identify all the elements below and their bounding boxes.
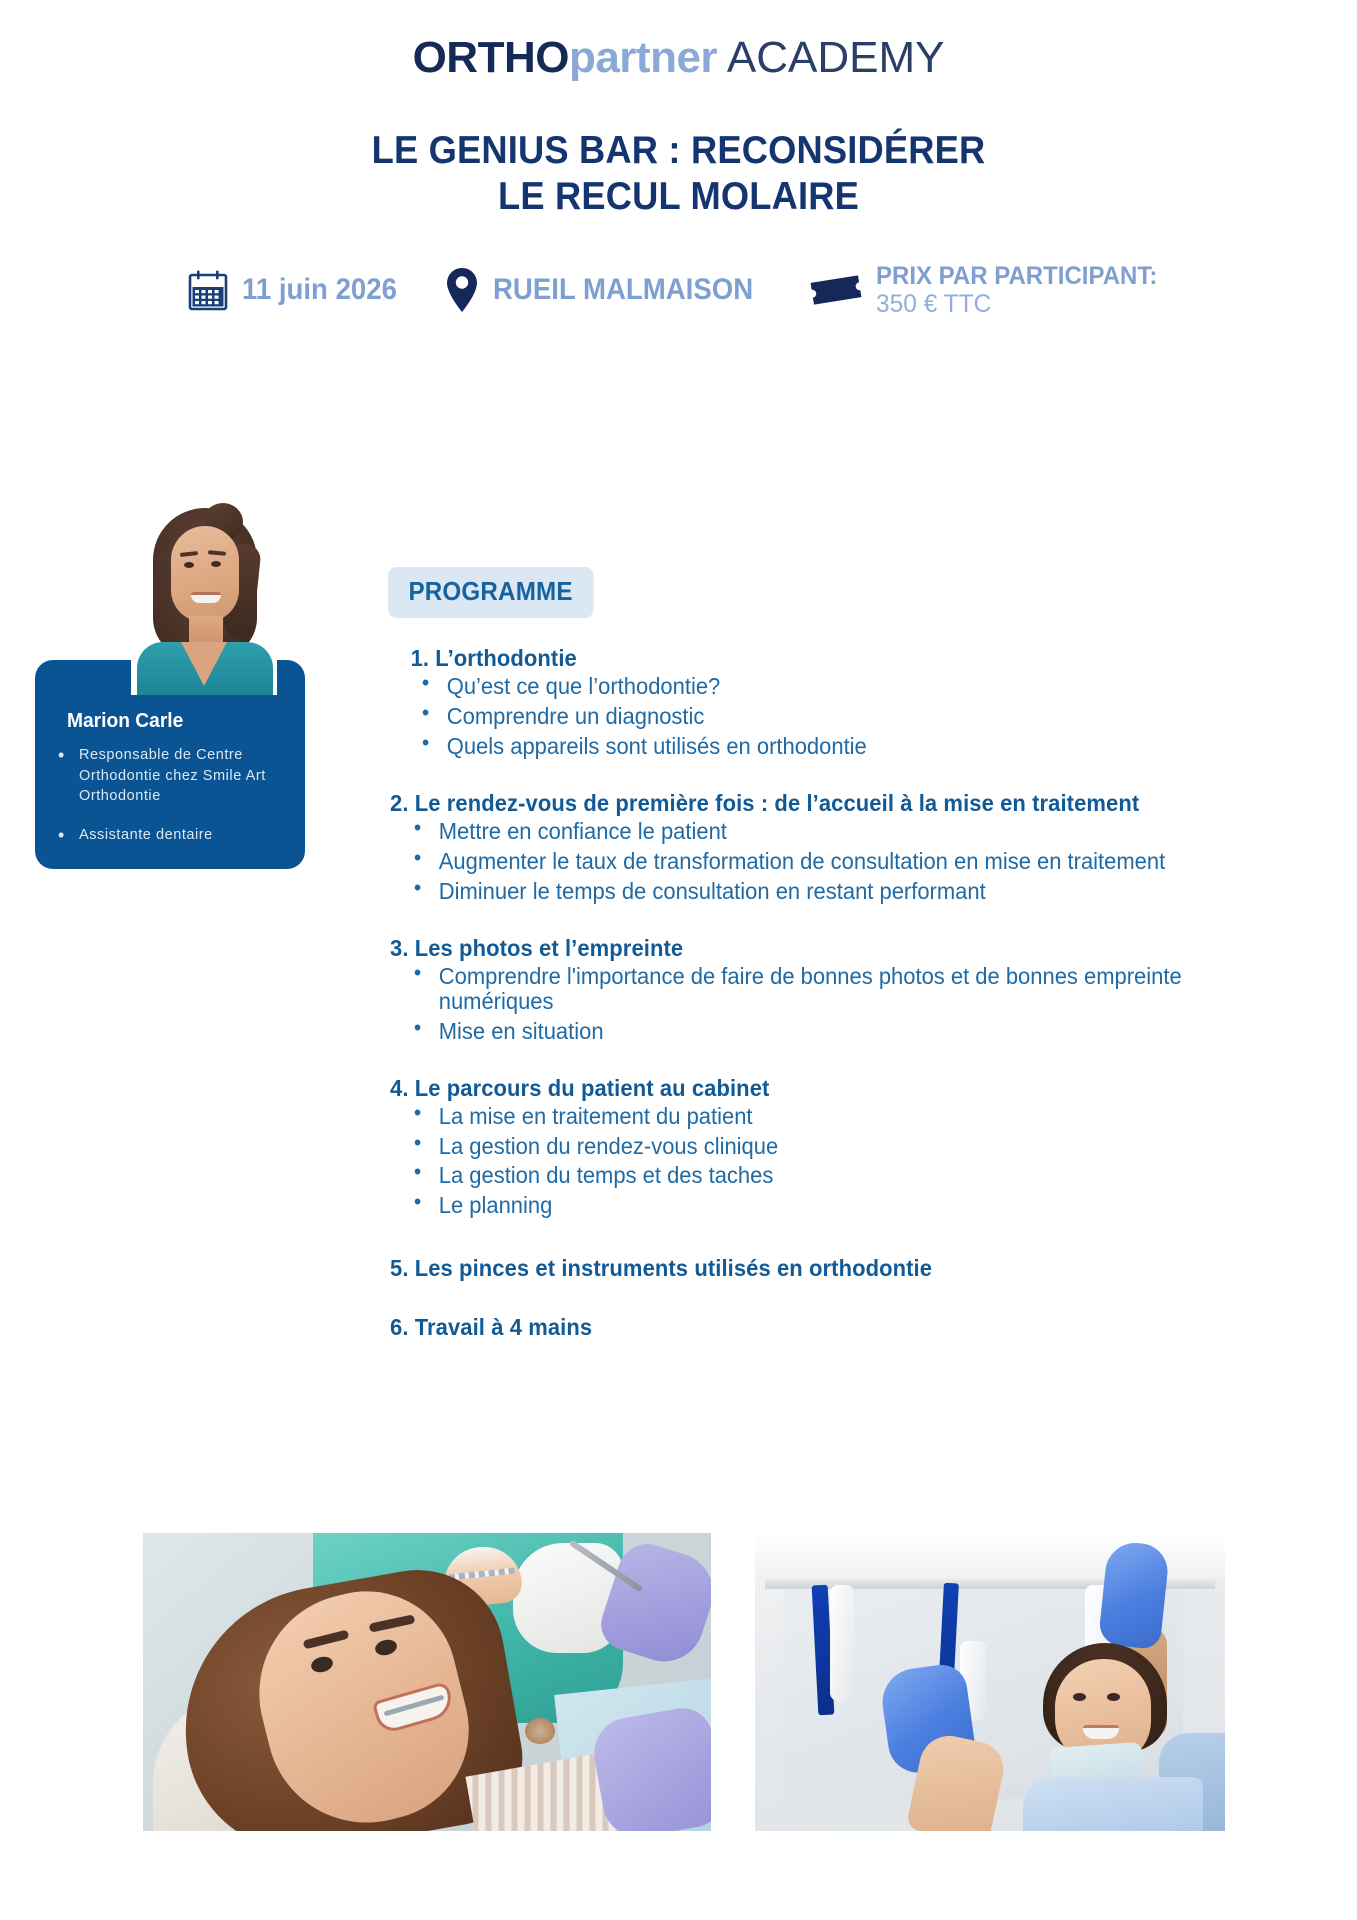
programme-section-5: 5. Les pinces et instruments utilisés en… — [390, 1255, 1310, 1282]
list-item: Quels appareils sont utilisés en orthodo… — [420, 734, 1270, 760]
list-item: Mettre en confiance le patient — [412, 819, 1270, 845]
programme-section-6: 6. Travail à 4 mains — [390, 1314, 1310, 1341]
list-item: La gestion du rendez-vous clinique — [412, 1134, 1270, 1160]
speaker-roles-list: Responsable de Centre Orthodontie chez S… — [53, 745, 287, 845]
photo-assistant-with-panoramic-xray — [755, 1533, 1225, 1831]
logo-partner-text: partner — [569, 33, 717, 82]
speaker-name: Marion Carle — [67, 710, 278, 733]
list-item: Comprendre l'importance de faire de bonn… — [412, 964, 1270, 1016]
programme-section-heading: 6. Travail à 4 mains — [390, 1314, 1250, 1341]
programme-section-heading: 2. Le rendez-vous de première fois : de … — [390, 790, 1250, 817]
event-date-text: 11 juin 2026 — [242, 273, 397, 307]
event-price-label: PRIX PAR PARTICIPANT: — [876, 262, 1157, 290]
page-title-line-2: LE RECUL MOLAIRE — [47, 174, 1309, 220]
event-location: RUEIL MALMAISON — [411, 267, 776, 313]
programme-section-1: 1. L’orthodontie Qu’est ce que l’orthodo… — [390, 645, 1310, 759]
logo-ortho-text: ORTHO — [413, 33, 569, 82]
list-item: Diminuer le temps de consultation en res… — [412, 879, 1270, 905]
list-item: Responsable de Centre Orthodontie chez S… — [53, 745, 287, 807]
event-price-block: PRIX PAR PARTICIPANT: 350 € TTC — [876, 262, 1169, 318]
photo-patient-in-dental-chair — [143, 1533, 711, 1831]
programme-section-heading: 1. L’orthodontie — [390, 645, 1250, 672]
logo-academy-text: ACADEMY — [717, 33, 944, 82]
programme-sections: 1. L’orthodontie Qu’est ce que l’orthodo… — [390, 645, 1310, 1343]
programme-section-items: Mettre en confiance le patient Augmenter… — [390, 819, 1310, 904]
event-price: PRIX PAR PARTICIPANT: 350 € TTC — [776, 262, 1169, 318]
brand-logo: ORTHOpartner ACADEMY — [0, 36, 1357, 80]
list-item: Le planning — [412, 1193, 1270, 1219]
flyer-page: ORTHOpartner ACADEMY LE GENIUS BAR : REC… — [0, 0, 1357, 1920]
list-item: La gestion du temps et des taches — [412, 1163, 1270, 1189]
list-item: La mise en traitement du patient — [412, 1104, 1270, 1130]
ticket-icon — [808, 270, 864, 310]
footer-photo-gallery — [0, 1533, 1357, 1843]
programme-section-items: Comprendre l'importance de faire de bonn… — [390, 964, 1310, 1045]
event-info-row: 11 juin 2026 RUEIL MALMAISON PRIX PA — [0, 262, 1357, 318]
programme-section-items: La mise en traitement du patient La gest… — [390, 1104, 1310, 1219]
speaker-photo — [131, 500, 277, 695]
programme-section-heading: 4. Le parcours du patient au cabinet — [390, 1075, 1250, 1102]
programme-badge: PROGRAMME — [388, 567, 593, 618]
list-item: Assistante dentaire — [53, 825, 287, 846]
list-item: Comprendre un diagnostic — [420, 704, 1270, 730]
event-location-text: RUEIL MALMAISON — [493, 273, 753, 307]
map-pin-icon — [445, 267, 479, 313]
event-price-value: 350 € TTC — [876, 290, 1163, 318]
programme-section-3: 3. Les photos et l’empreinte Comprendre … — [390, 935, 1310, 1045]
calendar-icon — [188, 269, 228, 311]
programme-section-heading: 5. Les pinces et instruments utilisés en… — [390, 1255, 1250, 1282]
programme-section-items: Qu’est ce que l’orthodontie? Comprendre … — [390, 674, 1310, 759]
list-item: Augmenter le taux de transformation de c… — [412, 849, 1270, 875]
programme-section-heading: 3. Les photos et l’empreinte — [390, 935, 1250, 962]
page-title: LE GENIUS BAR : RECONSIDÉRER LE RECUL MO… — [47, 128, 1309, 219]
event-date: 11 juin 2026 — [188, 269, 410, 311]
programme-section-2: 2. Le rendez-vous de première fois : de … — [390, 790, 1310, 904]
page-title-line-1: LE GENIUS BAR : RECONSIDÉRER — [47, 128, 1309, 174]
programme-section-4: 4. Le parcours du patient au cabinet La … — [390, 1075, 1310, 1219]
list-item: Qu’est ce que l’orthodontie? — [420, 674, 1270, 700]
list-item: Mise en situation — [412, 1019, 1270, 1045]
